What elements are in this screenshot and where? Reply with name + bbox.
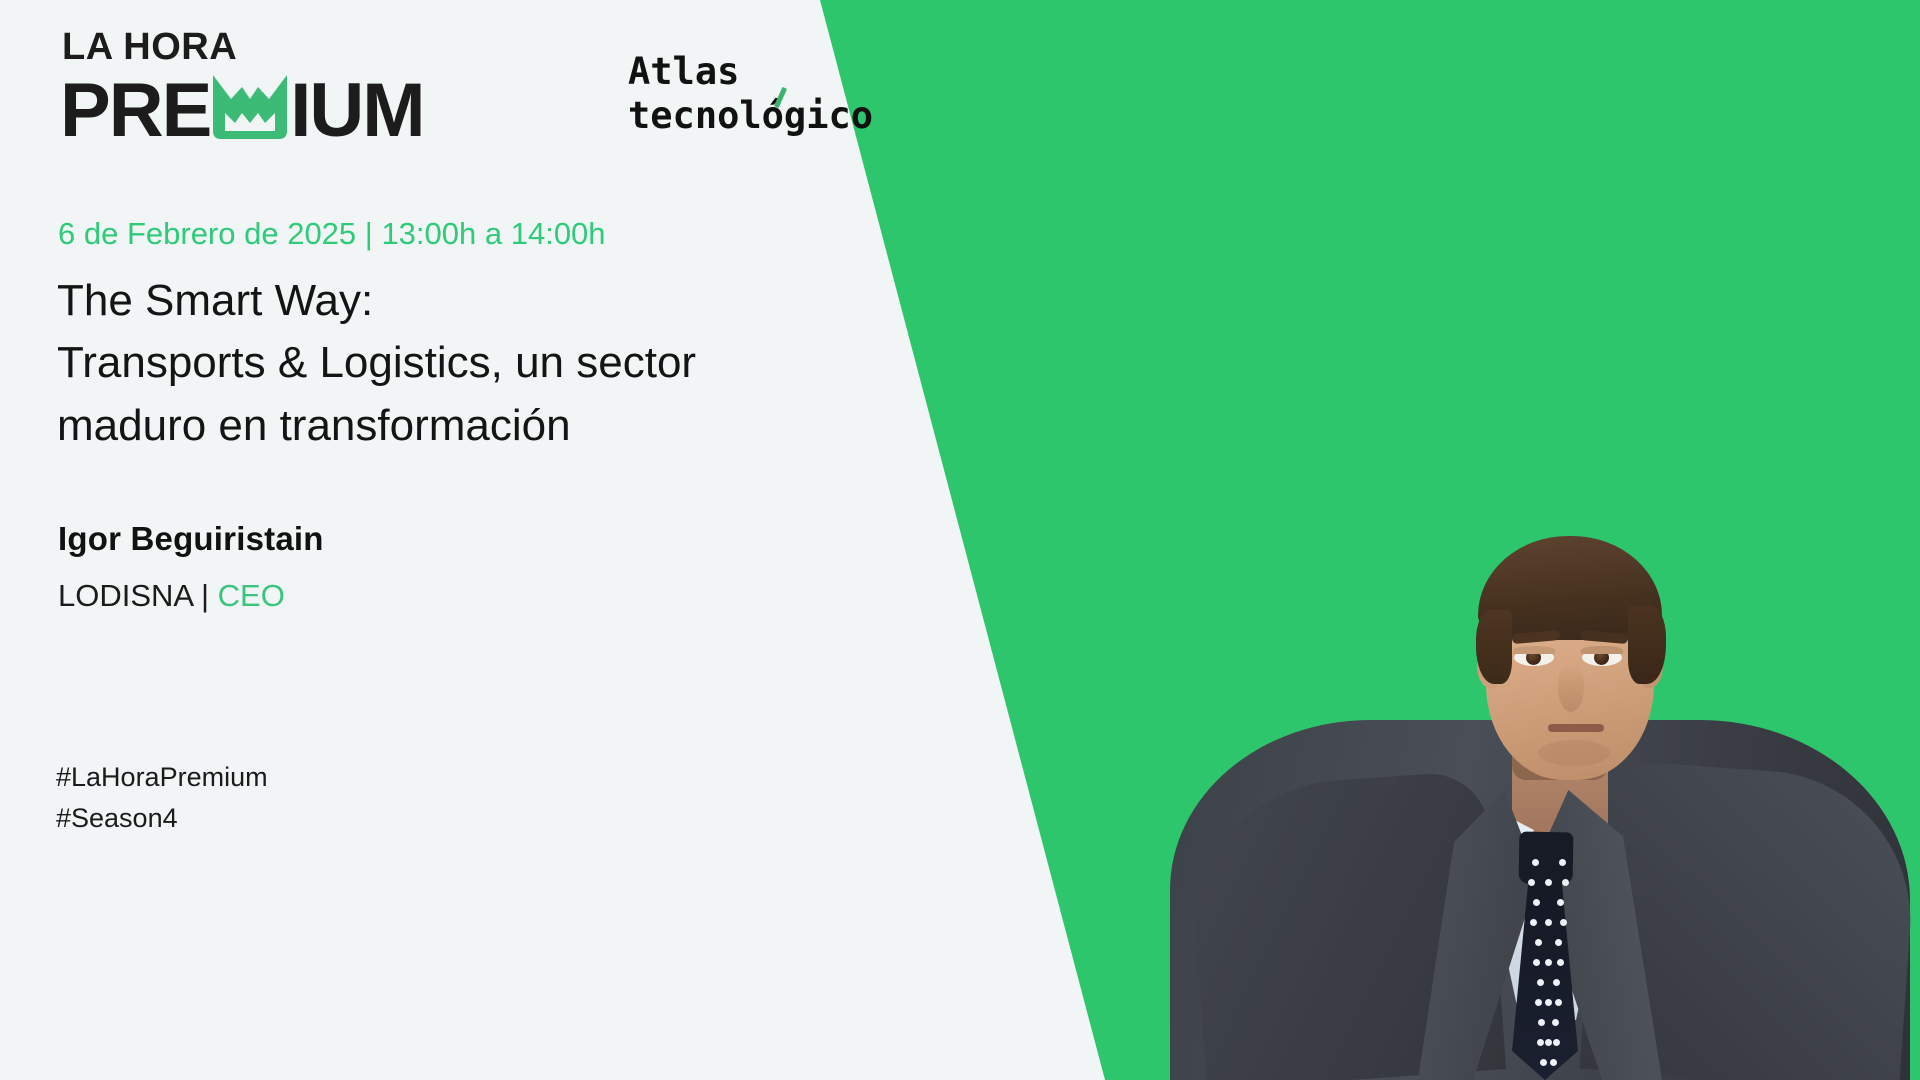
tie-dot (1540, 1059, 1547, 1066)
tie-dot (1533, 959, 1540, 966)
speaker-company: LODISNA (58, 578, 192, 613)
title-line-1: The Smart Way: (57, 270, 957, 332)
tie-dot (1562, 879, 1569, 886)
left-content-column: LA HORA PRE IUM Atlas tecnológico 6 de F… (0, 0, 1120, 1080)
hashtag-2: #Season4 (56, 798, 268, 839)
hashtag-1: #LaHoraPremium (56, 757, 268, 798)
tie-dot (1528, 879, 1535, 886)
atlas-tecnologico-logo: Atlas tecnológico (628, 50, 873, 137)
event-date-time: 6 de Febrero de 2025 | 13:00h a 14:00h (58, 216, 606, 252)
tie-dot (1538, 1019, 1545, 1026)
speaker-role: CEO (218, 578, 285, 613)
tie-dot (1555, 939, 1562, 946)
tie-dot (1545, 919, 1552, 926)
atlas-line-2-text: tecnol (628, 94, 762, 137)
tie-dot (1557, 959, 1564, 966)
tie-dot (1559, 859, 1566, 866)
tie-dot (1545, 999, 1552, 1006)
tie-dot (1535, 939, 1542, 946)
tie-dot (1530, 919, 1537, 926)
event-title: The Smart Way: Transports & Logistics, u… (57, 270, 957, 457)
tie-dot (1555, 999, 1562, 1006)
speaker-separator: | (192, 578, 217, 613)
tie-dot (1535, 999, 1542, 1006)
hashtag-block: #LaHoraPremium #Season4 (56, 757, 268, 839)
atlas-line-2: tecnológico (628, 94, 873, 138)
tie-dot (1545, 1039, 1552, 1046)
atlas-line-1: Atlas (628, 50, 873, 94)
speaker-portrait (1160, 145, 1920, 1080)
title-line-3: maduro en transformación (57, 395, 957, 457)
tie-dot (1557, 899, 1564, 906)
la-hora-premium-logo: LA HORA PRE IUM (60, 28, 424, 142)
poster-canvas: LA HORA PRE IUM Atlas tecnológico 6 de F… (0, 0, 1920, 1080)
logo-premium-pre: PRE (60, 80, 210, 142)
speaker-name: Igor Beguiristain (58, 520, 324, 558)
tie-dot (1545, 959, 1552, 966)
tie-dot (1552, 1019, 1559, 1026)
tie-dot (1537, 979, 1544, 986)
logo-premium-ium: IUM (290, 80, 423, 142)
tie-dot (1553, 1039, 1560, 1046)
tie-dot (1553, 979, 1560, 986)
title-line-2: Transports & Logistics, un sector (57, 332, 957, 394)
crown-icon (211, 73, 289, 141)
tie-dot (1550, 1059, 1557, 1066)
tie-dot (1532, 859, 1539, 866)
tie-dot (1560, 919, 1567, 926)
logo-top-line: LA HORA (62, 28, 424, 66)
tie-dot (1533, 899, 1540, 906)
tie-dot (1545, 879, 1552, 886)
speaker-company-role: LODISNA | CEO (58, 578, 285, 614)
tie-dot (1537, 1039, 1544, 1046)
